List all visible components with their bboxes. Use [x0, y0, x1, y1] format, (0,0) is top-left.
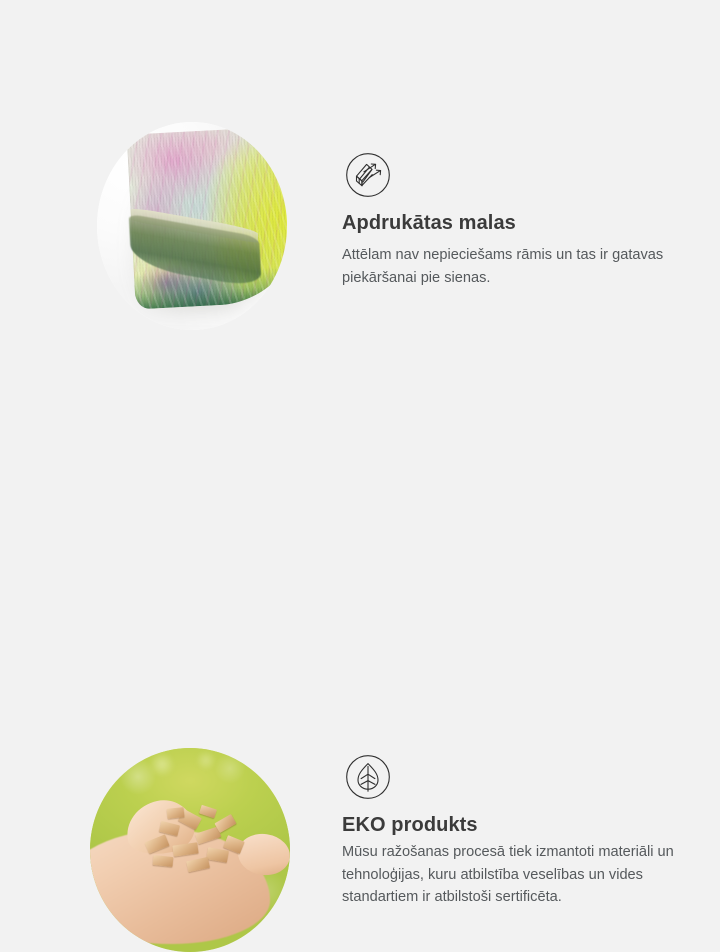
feature-body-eko: Mūsu ražošanas procesā tiek izmantoti ma… [342, 841, 682, 909]
printed-canvas-edge-icon [345, 152, 391, 198]
wood-chip-pile [142, 805, 254, 887]
feature-block-eko: EKO produkts Mūsu ražošanas procesā tiek… [0, 360, 720, 720]
canvas-photo-backdrop [97, 122, 287, 330]
promo-page: Apdrukātas malas Attēlam nav nepieciešam… [0, 0, 720, 720]
canvas-edge-photo [97, 122, 287, 330]
canvas-corner [127, 126, 287, 310]
feature-block-printed-edges: Apdrukātas malas Attēlam nav nepieciešam… [0, 0, 720, 360]
feature-body-printed-edges: Attēlam nav nepieciešams rāmis un tas ir… [342, 244, 682, 289]
feature-title-printed-edges: Apdrukātas malas [342, 212, 516, 235]
leaf-icon [345, 754, 391, 800]
wood-chips-photo [90, 748, 290, 952]
meadow-background [90, 748, 290, 952]
feature-title-eko: EKO produkts [342, 814, 478, 837]
